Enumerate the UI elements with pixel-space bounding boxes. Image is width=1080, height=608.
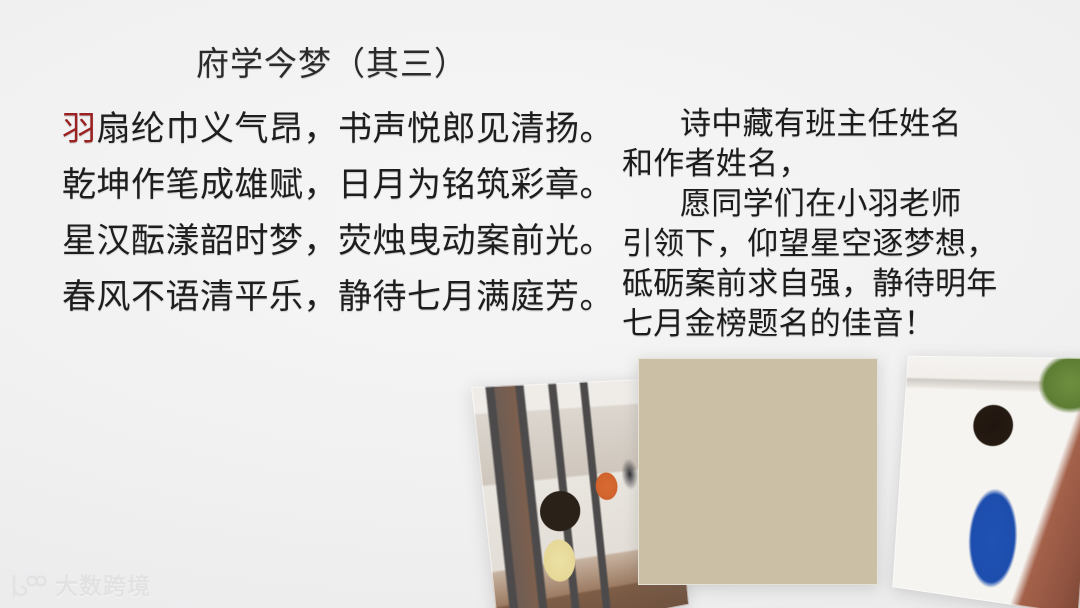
note-block: 诗中藏有班主任姓名 和作者姓名， 愿同学们在小羽老师 引领下，仰望星空逐梦想， … <box>622 104 1042 344</box>
note-line: 砥砺案前求自强，静待明年 <box>622 264 1042 304</box>
poem-line-text: 星汉酝漾韶时梦，荧烛曳动案前光。 <box>62 223 614 260</box>
poem-block: 府学今梦（其三） 羽扇纶巾义气昂，书声悦郎见清扬。 乾坤作笔成雄赋，日月为铭筑彩… <box>62 46 602 326</box>
photo-image <box>892 356 1080 608</box>
photo-image <box>638 358 878 585</box>
poem-line-text: 扇纶巾义气昂，书声悦郎见清扬。 <box>97 111 615 148</box>
poem-line-text: 乾坤作笔成雄赋，日月为铭筑彩章。 <box>62 167 614 204</box>
watermark-text: 大数跨境 <box>55 575 151 598</box>
poem-line: 春风不语清平乐，静待七月满庭芳。 <box>62 270 602 326</box>
photo-teacher-portrait <box>892 356 1080 608</box>
poem-line: 星汉酝漾韶时梦，荧烛曳动案前光。 <box>62 214 602 270</box>
photo-carousel <box>0 330 1080 608</box>
dashu-kuajing-logo-icon <box>10 573 48 599</box>
watermark: 大数跨境 <box>10 573 151 599</box>
poem-line: 乾坤作笔成雄赋，日月为铭筑彩章。 <box>62 158 602 214</box>
note-line: 引领下，仰望星空逐梦想， <box>622 224 1042 264</box>
note-line: 和作者姓名， <box>622 144 1042 184</box>
photo-class-group <box>638 358 878 585</box>
poem-accent-char: 羽 <box>62 111 97 148</box>
note-line: 愿同学们在小羽老师 <box>622 184 1042 224</box>
note-line: 诗中藏有班主任姓名 <box>622 104 1042 144</box>
presentation-slide: 府学今梦（其三） 羽扇纶巾义气昂，书声悦郎见清扬。 乾坤作笔成雄赋，日月为铭筑彩… <box>0 0 1080 608</box>
poem-line: 羽扇纶巾义气昂，书声悦郎见清扬。 <box>62 102 602 158</box>
poem-line-text: 春风不语清平乐，静待七月满庭芳。 <box>62 279 614 316</box>
poem-title: 府学今梦（其三） <box>62 46 602 86</box>
